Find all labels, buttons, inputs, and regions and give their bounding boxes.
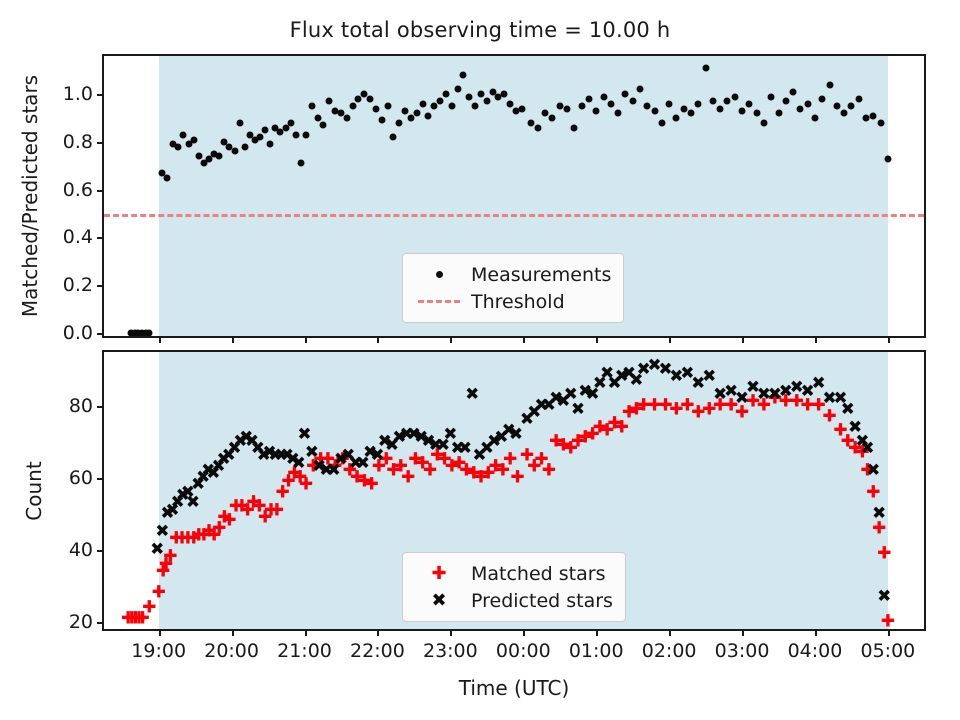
x-tick-mark	[815, 629, 817, 636]
measurement-point	[527, 119, 534, 126]
x-tick-mark	[232, 629, 234, 636]
dashed-line-icon	[413, 300, 465, 303]
matched-star-marker: ✚	[152, 585, 166, 602]
legend-label-matched-stars: Matched stars	[465, 563, 605, 585]
figure-title: Flux total observing time = 10.00 h	[0, 18, 960, 42]
measurement-point	[320, 122, 327, 129]
x-tick-mark	[742, 629, 744, 636]
dot-marker-icon	[413, 271, 465, 278]
measurement-point	[855, 95, 862, 102]
measurement-point	[688, 110, 695, 117]
measurement-point	[413, 110, 420, 117]
matched-star-marker: ✚	[364, 477, 378, 494]
measurement-point	[629, 98, 636, 105]
measurement-point	[571, 124, 578, 131]
measurement-point	[195, 153, 202, 160]
measurement-point	[472, 103, 479, 110]
matched-star-marker: ✚	[866, 484, 880, 501]
measurement-point	[442, 91, 449, 98]
measurement-point	[644, 103, 651, 110]
measurement-point	[717, 105, 724, 112]
measurement-point	[622, 91, 629, 98]
y-tick-mark	[97, 142, 104, 144]
measurement-point	[419, 100, 426, 107]
measurement-point	[384, 103, 391, 110]
measurement-point	[402, 107, 409, 114]
measurement-point	[326, 98, 333, 105]
measurement-point	[372, 105, 379, 112]
x-tick-label-0300: 03:00	[715, 640, 770, 662]
matched-star-marker: ✚	[503, 452, 517, 469]
x-tick-mark	[669, 336, 671, 343]
x-tick-label-2000: 20:00	[204, 640, 259, 662]
measurement-point	[425, 112, 432, 119]
measurement-point	[768, 93, 775, 100]
measurement-point	[501, 91, 508, 98]
measurement-point	[308, 103, 315, 110]
figure-canvas: Flux total observing time = 10.00 h 0.00…	[0, 0, 960, 720]
measurement-point	[884, 155, 891, 162]
x-tick-mark	[596, 629, 598, 636]
legend-item-measurements: Measurements	[413, 261, 611, 288]
x-tick-mark	[305, 629, 307, 636]
measurement-point	[797, 105, 804, 112]
x-tick-mark	[669, 629, 671, 636]
measurement-point	[460, 72, 467, 79]
y-tick-mark	[97, 94, 104, 96]
plus-marker-icon: ✚	[413, 565, 465, 583]
x-tick-mark	[159, 629, 161, 636]
measurement-point	[483, 98, 490, 105]
matched-star-marker: ✚	[877, 545, 891, 562]
x-tick-label-0500: 05:00	[861, 640, 916, 662]
measurement-point	[863, 115, 870, 122]
measurement-point	[396, 119, 403, 126]
legend-label-measurements: Measurements	[465, 264, 611, 286]
measurement-point	[607, 100, 614, 107]
predicted-star-marker: ✖	[155, 524, 169, 541]
measurement-point	[287, 119, 294, 126]
x-tick-label-0400: 04:00	[788, 640, 843, 662]
x-tick-mark	[888, 336, 890, 343]
matched-star-marker: ✚	[299, 477, 313, 494]
x-tick-mark	[159, 336, 161, 343]
measurement-point	[163, 174, 170, 181]
measurement-point	[466, 93, 473, 100]
measurement-point	[292, 131, 299, 138]
y-tick-mark	[97, 622, 104, 624]
measurement-point	[658, 119, 665, 126]
matched-star-marker: ✚	[270, 502, 284, 519]
predicted-star-marker: ✖	[297, 426, 311, 443]
measurement-point	[343, 115, 350, 122]
measurement-point	[651, 107, 658, 114]
matched-star-marker: ✚	[401, 470, 415, 487]
measurement-point	[267, 141, 274, 148]
measurement-point	[826, 81, 833, 88]
measurement-point	[542, 110, 549, 117]
y-tick-mark	[97, 237, 104, 239]
predicted-star-marker: ✖	[860, 441, 874, 458]
predicted-star-marker: ✖	[186, 495, 200, 512]
matched-star-marker: ✚	[510, 470, 524, 487]
measurement-point	[534, 124, 541, 131]
count-y-axis-label: Count	[22, 461, 46, 520]
x-tick-mark	[450, 629, 452, 636]
measurement-point	[870, 112, 877, 119]
measurement-point	[775, 110, 782, 117]
measurement-point	[739, 107, 746, 114]
ratio-y-axis-label: Matched/Predicted stars	[18, 75, 42, 317]
x-tick-mark	[450, 336, 452, 343]
legend-label-threshold: Threshold	[465, 291, 565, 313]
x-axis-label: Time (UTC)	[102, 676, 926, 700]
measurement-point	[518, 105, 525, 112]
measurement-point	[585, 95, 592, 102]
predicted-star-marker: ✖	[841, 401, 855, 418]
measurement-point	[833, 103, 840, 110]
measurement-point	[216, 153, 223, 160]
measurement-point	[241, 143, 248, 150]
legend-item-predicted-stars: ✖ Predicted stars	[413, 587, 613, 614]
x-tick-label-2300: 23:00	[423, 640, 478, 662]
measurement-point	[390, 134, 397, 141]
measurement-point	[790, 88, 797, 95]
x-tick-mark	[888, 629, 890, 636]
y-tick-mark	[97, 478, 104, 480]
measurement-point	[841, 110, 848, 117]
measurement-point	[564, 105, 571, 112]
measurement-point	[378, 117, 385, 124]
measurement-point	[680, 105, 687, 112]
x-tick-label-1900: 19:00	[131, 640, 186, 662]
measurement-point	[231, 148, 238, 155]
measurement-point	[709, 98, 716, 105]
legend-item-threshold: Threshold	[413, 288, 611, 315]
measurement-point	[731, 93, 738, 100]
x-tick-label-2100: 21:00	[277, 640, 332, 662]
y-tick-mark	[97, 550, 104, 552]
measurement-point	[811, 115, 818, 122]
measurement-point	[175, 143, 182, 150]
y-tick-mark	[97, 285, 104, 287]
x-tick-label-0100: 01:00	[569, 640, 624, 662]
measurement-point	[297, 160, 304, 167]
matched-star-marker: ✚	[163, 549, 177, 566]
x-tick-mark	[377, 629, 379, 636]
measurement-point	[848, 103, 855, 110]
measurement-point	[666, 100, 673, 107]
x-tick-mark	[815, 336, 817, 343]
x-tick-mark	[596, 336, 598, 343]
predicted-star-marker: ✖	[702, 369, 716, 386]
measurement-point	[600, 93, 607, 100]
measurement-point	[367, 95, 374, 102]
measurement-point	[314, 115, 321, 122]
cross-marker-icon: ✖	[413, 592, 465, 610]
measurement-point	[760, 119, 767, 126]
measurement-point	[477, 91, 484, 98]
measurement-point	[454, 86, 461, 93]
x-tick-mark	[305, 336, 307, 343]
x-tick-mark	[523, 629, 525, 636]
measurement-point	[556, 103, 563, 110]
measurement-point	[877, 119, 884, 126]
predicted-star-marker: ✖	[465, 387, 479, 404]
measurement-point	[702, 64, 709, 71]
predicted-star-marker: ✖	[458, 441, 472, 458]
y-tick-mark	[97, 333, 104, 335]
measurement-point	[673, 115, 680, 122]
measurement-point	[593, 107, 600, 114]
measurement-point	[190, 136, 197, 143]
x-tick-label-0200: 02:00	[642, 640, 697, 662]
predicted-star-marker: ✖	[571, 401, 585, 418]
measurement-point	[819, 95, 826, 102]
predicted-star-marker: ✖	[872, 506, 886, 523]
measurement-point	[746, 100, 753, 107]
measurement-point	[146, 329, 153, 336]
threshold-line	[104, 214, 924, 217]
measurement-point	[349, 103, 356, 110]
measurement-point	[615, 110, 622, 117]
measurement-point	[804, 100, 811, 107]
measurement-point	[724, 98, 731, 105]
predicted-star-marker: ✖	[866, 462, 880, 479]
measurement-point	[448, 103, 455, 110]
x-tick-mark	[742, 336, 744, 343]
predicted-star-marker: ✖	[292, 455, 306, 472]
count-legend: ✚ Matched stars ✖ Predicted stars	[402, 552, 626, 622]
count-panel: ✚✚✚✚✚✚✚✚✚✚✚✚✚✚✚✚✚✚✚✚✚✚✚✚✚✚✚✚✚✚✚✚✚✚✚✚✚✚✚✚…	[102, 350, 926, 631]
x-tick-mark	[377, 336, 379, 343]
measurement-point	[437, 98, 444, 105]
measurement-point	[262, 126, 269, 133]
measurement-point	[180, 131, 187, 138]
measurement-point	[636, 86, 643, 93]
y-tick-mark	[97, 406, 104, 408]
predicted-star-marker: ✖	[877, 588, 891, 605]
y-tick-mark	[97, 190, 104, 192]
legend-item-matched-stars: ✚ Matched stars	[413, 560, 613, 587]
measurement-point	[695, 100, 702, 107]
measurement-point	[302, 131, 309, 138]
x-tick-label-2200: 22:00	[350, 640, 405, 662]
legend-label-predicted-stars: Predicted stars	[465, 590, 613, 612]
measurement-point	[782, 98, 789, 105]
measurement-point	[753, 110, 760, 117]
ratio-legend: Measurements Threshold	[402, 253, 624, 323]
x-tick-mark	[523, 336, 525, 343]
x-tick-mark	[232, 336, 234, 343]
measurement-point	[257, 134, 264, 141]
matched-star-marker: ✚	[881, 614, 895, 629]
measurement-point	[549, 115, 556, 122]
ratio-panel: 0.00.20.40.60.81.0 Measurements Threshol…	[102, 54, 926, 338]
x-tick-label-0000: 00:00	[496, 640, 551, 662]
measurement-point	[507, 100, 514, 107]
matched-star-marker: ✚	[542, 462, 556, 479]
predicted-star-marker: ✖	[150, 542, 164, 559]
measurement-point	[578, 103, 585, 110]
measurement-point	[236, 119, 243, 126]
